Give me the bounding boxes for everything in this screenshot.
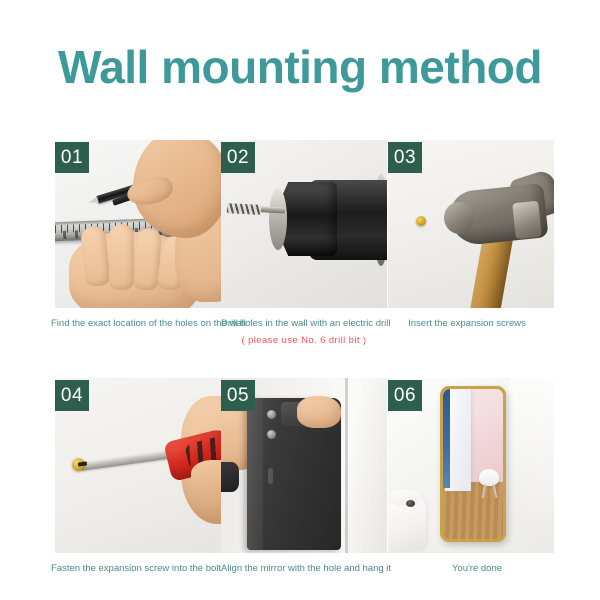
finger [109, 224, 134, 290]
step-badge-01: 01 [55, 142, 89, 173]
hand [297, 396, 341, 428]
step-photo-05: 05 [221, 378, 387, 553]
step-card-01: 01 Find the exact location of the holes … [55, 140, 221, 331]
step-caption-text-06: You're done [452, 563, 502, 574]
step-caption-05: Align the mirror with the hole and hang … [221, 562, 387, 576]
reflected-white-chair [479, 469, 499, 486]
fixture-button [406, 500, 415, 507]
step-photo-03: 03 [388, 140, 554, 308]
drill-chuck-icon [279, 182, 337, 256]
step-badge-04: 04 [55, 380, 89, 411]
step-caption-text-02: Drill holes in the wall with an electric… [221, 318, 390, 329]
step-card-04: 04 Fasten the expansion screw into the b… [55, 378, 221, 576]
step-caption-03: Insert the expansion screws [384, 317, 550, 331]
step-photo-04: 04 [55, 378, 221, 553]
step-caption-text-01: Find the exact location of the holes on … [51, 318, 246, 329]
page-title: Wall mounting method [0, 44, 600, 90]
reflected-blue-curtain [443, 389, 450, 488]
step-photo-02: 02 [221, 140, 387, 308]
fixture-lid [388, 490, 422, 506]
step-caption-04: Fasten the expansion screw into the bolt [51, 562, 217, 576]
mounting-hole [267, 430, 276, 439]
step-card-02: 02 Drill holes in the wall with an elect… [221, 140, 387, 349]
mirror-glass [443, 389, 503, 539]
step-photo-01: 01 [55, 140, 221, 308]
step-caption-02: Drill holes in the wall with an electric… [221, 317, 387, 349]
mirror-frame-edge [247, 398, 263, 550]
knuckles [191, 460, 221, 494]
hanging-slot [268, 468, 273, 484]
step-badge-05: 05 [221, 380, 255, 411]
step-caption-01: Find the exact location of the holes on … [51, 317, 217, 331]
gold-framed-mirror-icon [440, 386, 506, 542]
mounting-hole [267, 410, 276, 419]
step-photo-06: 06 [388, 378, 554, 553]
drill-bit-flute [227, 203, 261, 215]
step-card-05: 05 Align the mirror with the hole and ha… [221, 378, 387, 576]
step-caption-note-02: ( please use No. 6 drill bit ) [221, 334, 387, 348]
step-caption-text-04: Fasten the expansion screw into the bolt [51, 563, 221, 574]
step-caption-06: You're done [394, 562, 560, 576]
step-badge-02: 02 [221, 142, 255, 173]
step-card-06: 06 You're done [388, 378, 554, 576]
wall-corner-edge [345, 378, 348, 553]
sleeve [221, 462, 239, 492]
step-caption-text-05: Align the mirror with the hole and hang … [221, 563, 391, 574]
wall-anchor-icon [416, 216, 426, 226]
step-card-03: 03 Insert the expansion screws [388, 140, 554, 331]
step-badge-03: 03 [388, 142, 422, 173]
drill-collar [269, 188, 287, 250]
step-caption-text-03: Insert the expansion screws [408, 318, 526, 329]
step-badge-06: 06 [388, 380, 422, 411]
hammer-face [512, 201, 542, 240]
